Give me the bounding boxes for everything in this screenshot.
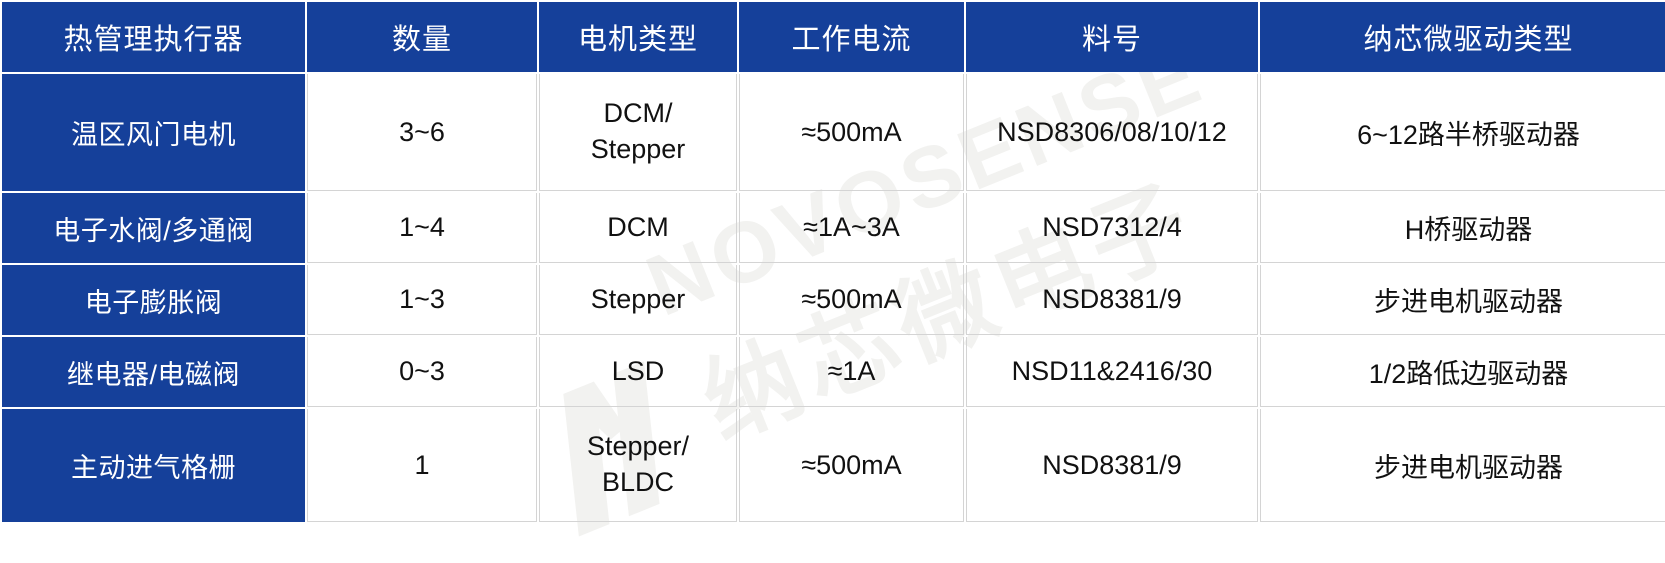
cell-current: ≈500mA (739, 74, 964, 191)
cell-part-number: NSD7312/4 (966, 193, 1258, 263)
cell-quantity: 1 (307, 409, 537, 522)
cell-actuator: 继电器/电磁阀 (2, 337, 305, 407)
column-header-part-number: 料号 (966, 2, 1258, 72)
cell-driver-type: 6~12路半桥驱动器 (1260, 74, 1665, 191)
table-row: 电子膨胀阀 1~3 Stepper ≈500mA NSD8381/9 步进电机驱… (2, 265, 1665, 335)
motor-type-line-2: BLDC (546, 465, 730, 501)
cell-driver-type: 1/2路低边驱动器 (1260, 337, 1665, 407)
column-header-motor-type: 电机类型 (539, 2, 737, 72)
cell-current: ≈1A~3A (739, 193, 964, 263)
cell-current: ≈500mA (739, 409, 964, 522)
column-header-actuator: 热管理执行器 (2, 2, 305, 72)
cell-motor-type: DCM (539, 193, 737, 263)
cell-driver-type: 步进电机驱动器 (1260, 409, 1665, 522)
data-table: 热管理执行器 数量 电机类型 工作电流 料号 纳芯微驱动类型 温区风门电机 3~… (0, 0, 1665, 524)
cell-actuator: 电子水阀/多通阀 (2, 193, 305, 263)
cell-quantity: 0~3 (307, 337, 537, 407)
cell-part-number: NSD8381/9 (966, 409, 1258, 522)
cell-current: ≈500mA (739, 265, 964, 335)
cell-actuator: 主动进气格栅 (2, 409, 305, 522)
table-row: 电子水阀/多通阀 1~4 DCM ≈1A~3A NSD7312/4 H桥驱动器 (2, 193, 1665, 263)
motor-type-line-1: Stepper/ (546, 429, 730, 465)
cell-quantity: 3~6 (307, 74, 537, 191)
cell-driver-type: H桥驱动器 (1260, 193, 1665, 263)
motor-type-line-1: DCM/ (546, 96, 730, 132)
cell-motor-type: Stepper/ BLDC (539, 409, 737, 522)
table-row: 主动进气格栅 1 Stepper/ BLDC ≈500mA NSD8381/9 … (2, 409, 1665, 522)
cell-quantity: 1~4 (307, 193, 537, 263)
cell-motor-type: Stepper (539, 265, 737, 335)
cell-quantity: 1~3 (307, 265, 537, 335)
cell-motor-type: DCM/ Stepper (539, 74, 737, 191)
table-header: 热管理执行器 数量 电机类型 工作电流 料号 纳芯微驱动类型 (2, 2, 1665, 72)
cell-current: ≈1A (739, 337, 964, 407)
cell-part-number: NSD8306/08/10/12 (966, 74, 1258, 191)
thermal-actuator-table-figure: NOVOSENSE 纳芯微电子 热管理执行器 数量 电机类型 工作电流 料号 纳… (0, 0, 1665, 563)
cell-actuator: 温区风门电机 (2, 74, 305, 191)
cell-part-number: NSD8381/9 (966, 265, 1258, 335)
motor-type-line-2: Stepper (546, 132, 730, 168)
column-header-quantity: 数量 (307, 2, 537, 72)
column-header-driver-type: 纳芯微驱动类型 (1260, 2, 1665, 72)
column-header-current: 工作电流 (739, 2, 964, 72)
cell-motor-type: LSD (539, 337, 737, 407)
header-row: 热管理执行器 数量 电机类型 工作电流 料号 纳芯微驱动类型 (2, 2, 1665, 72)
cell-driver-type: 步进电机驱动器 (1260, 265, 1665, 335)
cell-part-number: NSD11&2416/30 (966, 337, 1258, 407)
cell-actuator: 电子膨胀阀 (2, 265, 305, 335)
table-row: 温区风门电机 3~6 DCM/ Stepper ≈500mA NSD8306/0… (2, 74, 1665, 191)
table-row: 继电器/电磁阀 0~3 LSD ≈1A NSD11&2416/30 1/2路低边… (2, 337, 1665, 407)
table-body: 温区风门电机 3~6 DCM/ Stepper ≈500mA NSD8306/0… (2, 74, 1665, 522)
